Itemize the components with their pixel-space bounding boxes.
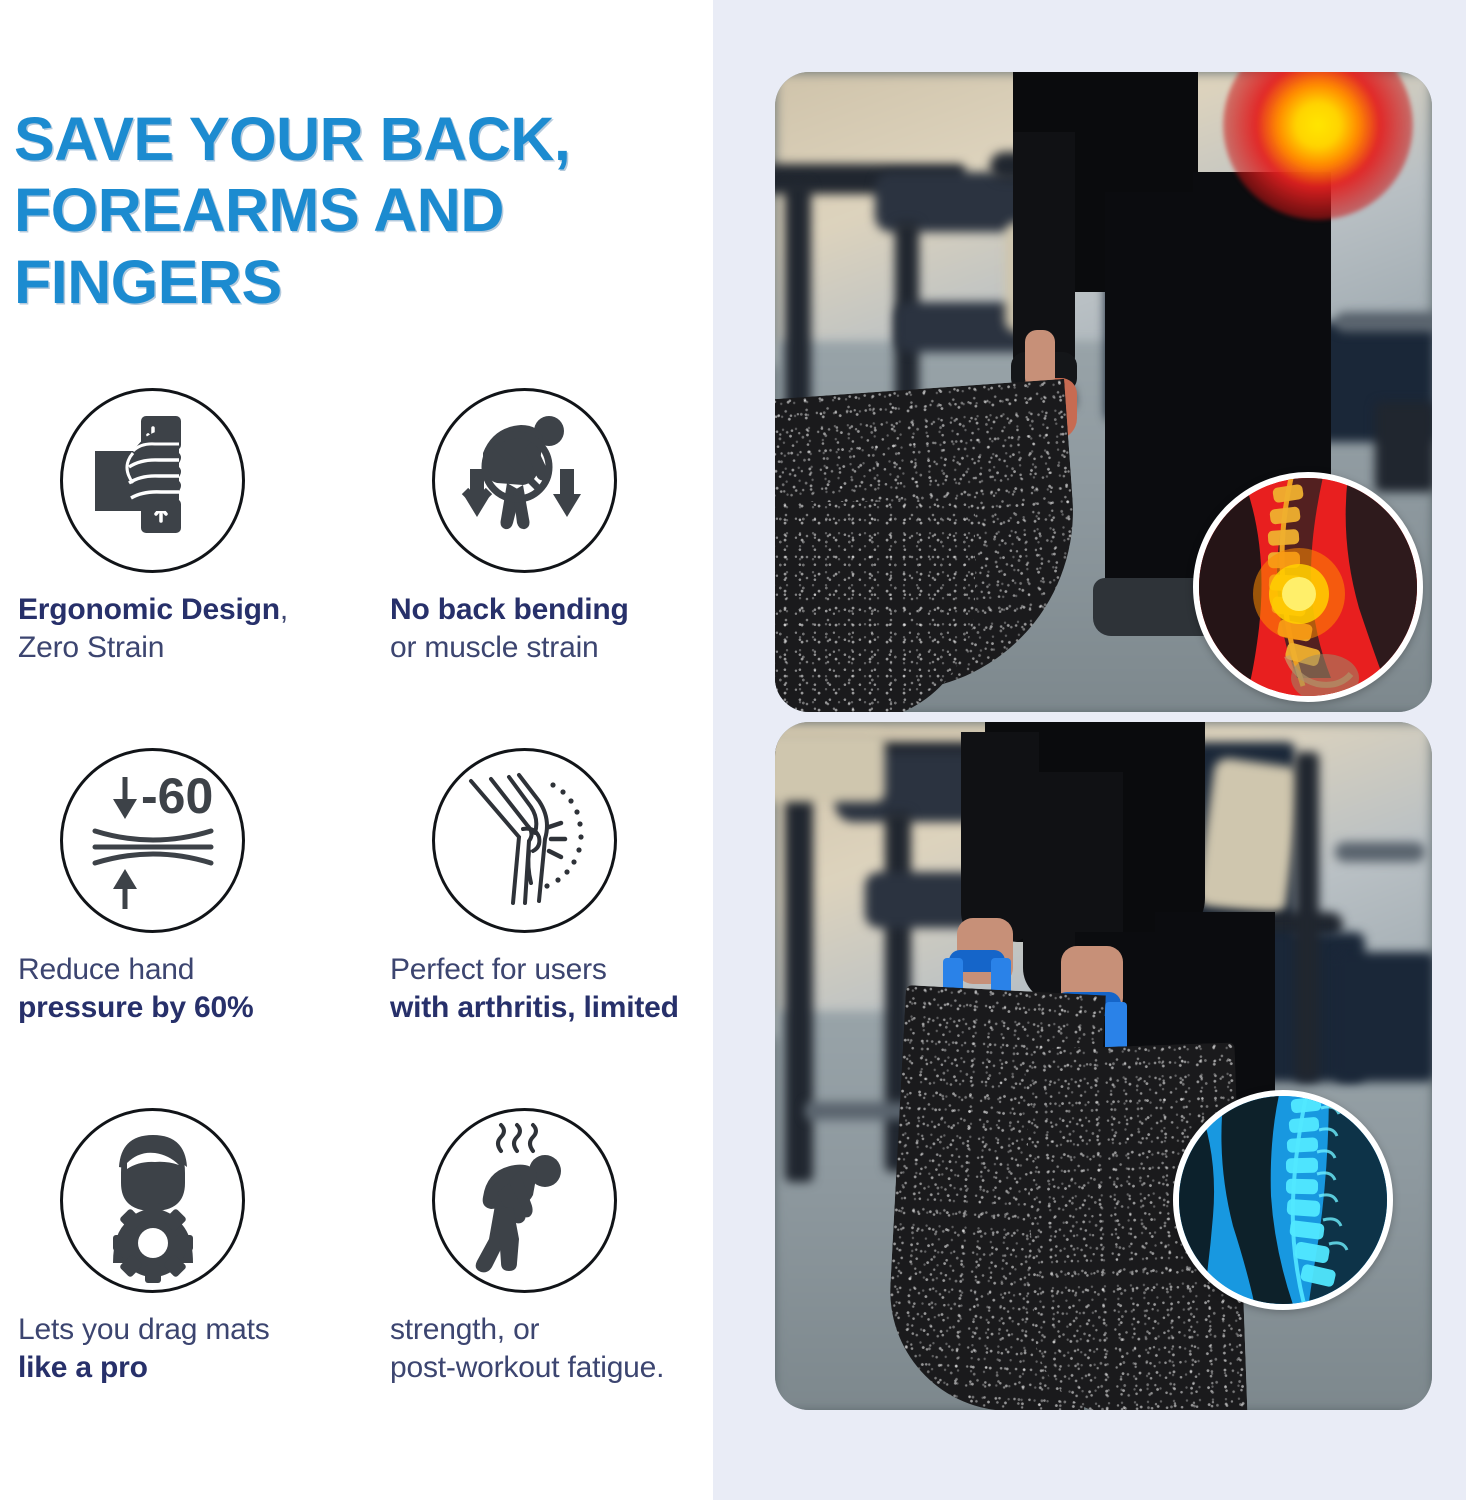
caption-bold-2: pressure by 60%	[18, 991, 253, 1024]
page-title: SAVE YOUR BACK, FOREARMS AND FINGERS	[14, 104, 704, 318]
feature-arthritis-friendly: Perfect for users with arthritis, limite…	[372, 748, 713, 1108]
caption-bold-2: like a pro	[18, 1351, 148, 1384]
feature-caption: Reduce hand pressure by 60%	[18, 951, 372, 1028]
pressure-value: -60	[141, 768, 213, 824]
feature-caption: Ergonomic Design, Zero Strain	[18, 591, 372, 668]
caption-line-2: or muscle strain	[390, 629, 713, 667]
photo-manual-carry	[775, 72, 1432, 712]
inset-healthy-spine	[1173, 1090, 1393, 1310]
headline-line-3: FINGERS	[14, 247, 704, 318]
headline-line-1: SAVE YOUR BACK,	[14, 104, 704, 175]
feature-reduce-pressure: -60 Reduce hand pressure by 60%	[0, 748, 372, 1108]
feature-ergonomic-design: Ergonomic Design, Zero Strain	[0, 388, 372, 748]
caption-bold-2: with arthritis, limited	[390, 991, 679, 1024]
caption-line-1: strength, or	[390, 1311, 713, 1349]
caption-tail-1: ,	[280, 593, 288, 626]
left-content-panel: SAVE YOUR BACK, FOREARMS AND FINGERS	[0, 0, 713, 1500]
gripping-hand-icon	[60, 388, 245, 573]
photo-tool-carry	[775, 722, 1432, 1410]
technician-gear-icon	[60, 1108, 245, 1293]
feature-no-back-bending: No back bending or muscle strain	[372, 388, 713, 748]
caption-line-2: post-workout fatigue.	[390, 1349, 713, 1387]
knee-joint-icon	[432, 748, 617, 933]
headline-line-2: FOREARMS AND	[14, 175, 704, 246]
feature-post-workout-fatigue: strength, or post-workout fatigue.	[372, 1108, 713, 1468]
feature-drag-like-pro: Lets you drag mats like a pro	[0, 1108, 372, 1468]
caption-bold-1: Ergonomic Design	[18, 593, 280, 626]
product-infographic: SAVE YOUR BACK, FOREARMS AND FINGERS	[0, 0, 1466, 1500]
fatigue-person-icon	[432, 1108, 617, 1293]
feature-grid: Ergonomic Design, Zero Strain	[0, 388, 713, 1468]
feature-caption: Perfect for users with arthritis, limite…	[390, 951, 713, 1028]
pressure-reduction-icon: -60	[60, 748, 245, 933]
no-back-bending-icon	[432, 388, 617, 573]
right-photo-panel	[713, 0, 1466, 1500]
caption-line-1: Reduce hand	[18, 951, 372, 989]
caption-line-2: Zero Strain	[18, 629, 372, 667]
feature-caption: Lets you drag mats like a pro	[18, 1311, 372, 1388]
caption-line-1: Lets you drag mats	[18, 1311, 372, 1349]
caption-bold-1: No back bending	[390, 593, 629, 626]
feature-caption: strength, or post-workout fatigue.	[390, 1311, 713, 1388]
inset-inflamed-spine	[1193, 472, 1423, 702]
feature-caption: No back bending or muscle strain	[390, 591, 713, 668]
caption-line-1: Perfect for users	[390, 951, 713, 989]
